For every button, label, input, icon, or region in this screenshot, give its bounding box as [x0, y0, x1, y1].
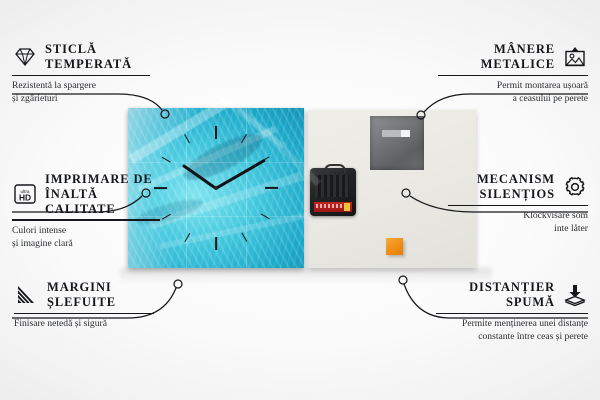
product-photo: [128, 108, 476, 274]
hour-tick: [215, 237, 217, 250]
feature-title: DISTANȚIER SPUMĂ: [469, 280, 555, 310]
metal-hanger-plate: [370, 116, 424, 170]
feature-subtitle-line1: Culori intense: [12, 225, 172, 238]
feature-title-line2: ȘLEFUITE: [47, 295, 116, 310]
movement-vents: [315, 175, 349, 197]
battery-label: [316, 204, 344, 208]
feature-subtitle-line2: și imagine clară: [12, 238, 172, 251]
feature-title-line2: TEMPERATĂ: [45, 57, 132, 72]
feature-subtitle: Culori intense și imagine clară: [12, 225, 172, 251]
picture-hanger-icon: [562, 45, 588, 69]
feature-title-line1: IMPRIMARE DE: [45, 172, 172, 187]
feature-divider: [12, 75, 150, 77]
panel-seam: [186, 108, 187, 268]
feature-title-line2: ÎNALTĂ CALITATE: [45, 187, 172, 217]
feature-header: STICLĂ TEMPERATĂ: [12, 42, 162, 72]
feature-subtitle-line1: Permite menținerea unei distanțe: [428, 318, 588, 331]
feature-subtitle-line2: și zgârieturi: [12, 93, 162, 106]
hand-hub: [214, 186, 218, 190]
foam-spacer: [386, 238, 403, 255]
gear-icon: [562, 175, 588, 199]
feature-divider: [436, 313, 588, 315]
feature-divider: [448, 205, 588, 207]
feature-title: IMPRIMARE DE ÎNALTĂ CALITATE: [45, 172, 172, 216]
battery-terminal: [344, 203, 350, 211]
foam-spacer-icon: [562, 283, 588, 307]
quartz-movement: [310, 168, 356, 216]
feature-subtitle: Rezistentă la spargere și zgârieturi: [12, 80, 162, 106]
feature-metal-handles: MÂNERE METALICE Permit montarea ușoară a…: [430, 42, 588, 106]
feature-subtitle-line1: Finisare netedă și sigură: [14, 318, 164, 331]
feature-title: MÂNERE METALICE: [481, 42, 555, 72]
feature-subtitle: Permite menținerea unei distanțe constan…: [428, 318, 588, 344]
feature-subtitle: Finisare netedă și sigură: [14, 318, 164, 331]
feature-tempered-glass: STICLĂ TEMPERATĂ Rezistentă la spargere …: [12, 42, 162, 106]
infographic-canvas: STICLĂ TEMPERATĂ Rezistentă la spargere …: [0, 0, 600, 400]
feature-subtitle-line1: Rezistentă la spargere: [12, 80, 162, 93]
hour-tick: [215, 126, 217, 139]
feature-header: MÂNERE METALICE: [430, 42, 588, 72]
feature-subtitle-line1: Klockvisare som: [440, 210, 588, 223]
hour-tick: [265, 187, 278, 189]
feature-title: MECANISM SILENȚIOS: [477, 172, 555, 202]
feature-divider: [438, 75, 588, 77]
panel-seam: [128, 162, 304, 163]
feature-header: DISTANȚIER SPUMĂ: [428, 280, 588, 310]
feature-header: MARGINI ȘLEFUITE: [14, 280, 164, 310]
battery: [314, 202, 352, 212]
feature-foam-spacer: DISTANȚIER SPUMĂ Permite menținerea unei…: [428, 280, 588, 344]
feature-title-line1: MECANISM: [477, 172, 555, 187]
feature-header: ultra HD IMPRIMARE DE ÎNALTĂ CALITATE: [12, 172, 172, 216]
feature-subtitle-line2: inte låter: [440, 223, 588, 236]
diamond-icon: [12, 45, 38, 69]
panel-seam: [246, 108, 247, 268]
feature-header: MECANISM SILENȚIOS: [440, 172, 588, 202]
feature-subtitle-line2: a ceasului pe perete: [430, 93, 588, 106]
svg-text:HD: HD: [19, 193, 31, 203]
feature-title-line1: DISTANȚIER: [469, 280, 555, 295]
feature-title: STICLĂ TEMPERATĂ: [45, 42, 132, 72]
feature-title-line1: MÂNERE: [481, 42, 555, 57]
feature-title-line2: METALICE: [481, 57, 555, 72]
feature-subtitle: Permit montarea ușoară a ceasului pe per…: [430, 80, 588, 106]
feature-title-line2: SILENȚIOS: [477, 187, 555, 202]
feature-subtitle: Klockvisare som inte låter: [440, 210, 588, 236]
movement-hanger-loop: [324, 164, 346, 174]
feature-subtitle-line2: constante între ceas și perete: [428, 331, 588, 344]
feature-title-line1: MARGINI: [47, 280, 116, 295]
feature-title-line2: SPUMĂ: [469, 295, 555, 310]
feature-title: MARGINI ȘLEFUITE: [47, 280, 116, 310]
feature-subtitle-line1: Permit montarea ușoară: [430, 80, 588, 93]
feature-silent-mechanism: MECANISM SILENȚIOS Klockvisare som inte …: [440, 172, 588, 236]
feather-shadow: [179, 126, 267, 188]
feature-divider: [14, 313, 154, 315]
feature-divider: [12, 219, 160, 221]
ultra-hd-icon: ultra HD: [12, 182, 38, 206]
feature-print-quality: ultra HD IMPRIMARE DE ÎNALTĂ CALITATE Cu…: [12, 172, 172, 251]
hanger-keyhole: [382, 130, 410, 137]
beveled-edge-icon: [14, 283, 40, 307]
feature-title-line1: STICLĂ: [45, 42, 132, 57]
feature-polished-edges: MARGINI ȘLEFUITE Finisare netedă și sigu…: [14, 280, 164, 331]
